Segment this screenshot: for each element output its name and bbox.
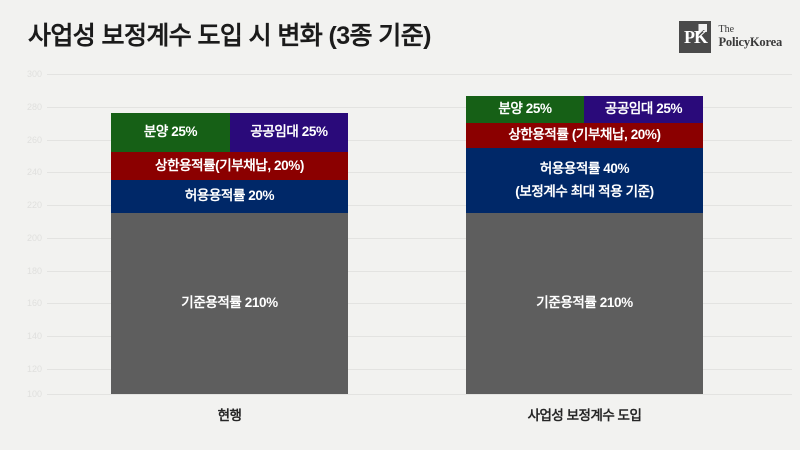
logo-monogram: PK xyxy=(684,28,707,46)
gridline-100 xyxy=(47,394,792,395)
ytick-label-160: 160 xyxy=(8,299,42,308)
bar-current[interactable]: 분양 25% 공공임대 25% 상한용적률(기부채납, 20%) 허용용적률 2… xyxy=(111,113,348,394)
segment-cap-adjusted[interactable]: 상한용적률 (기부채납, 20%) xyxy=(466,123,703,148)
segment-label-allowed-adjusted: 허용용적률 40% xyxy=(540,161,629,178)
ytick-label-300: 300 xyxy=(8,70,42,79)
segment-allowed-current[interactable]: 허용용적률 20% xyxy=(111,180,348,213)
segment-cap-current[interactable]: 상한용적률(기부채납, 20%) xyxy=(111,152,348,180)
gridline-300 xyxy=(47,74,792,75)
segment-label-rental-current: 공공임대 25% xyxy=(250,124,327,141)
segment-sale-adjusted[interactable]: 분양 25% xyxy=(466,96,584,123)
policykorea-logo: PK The PolicyKorea xyxy=(679,20,782,54)
segment-label-sale-adjusted: 분양 25% xyxy=(498,101,551,118)
ytick-label-280: 280 xyxy=(8,103,42,112)
logo-wordmark: The PolicyKorea xyxy=(718,25,782,49)
bar-adjusted[interactable]: 분양 25% 공공임대 25% 상한용적률 (기부채납, 20%) 허용용적률 … xyxy=(466,96,703,394)
segment-rental-current[interactable]: 공공임대 25% xyxy=(230,113,348,152)
segment-label-base-current: 기준용적률 210% xyxy=(181,295,277,312)
segment-sale-current[interactable]: 분양 25% xyxy=(111,113,230,152)
segment-base-current[interactable]: 기준용적률 210% xyxy=(111,213,348,394)
logo-line-2: PolicyKorea xyxy=(718,36,782,50)
logo-mark-icon: PK xyxy=(679,21,711,53)
xaxis-label-current: 현행 xyxy=(111,404,348,424)
ytick-label-100: 100 xyxy=(8,390,42,399)
segment-label-rental-adjusted: 공공임대 25% xyxy=(605,101,682,118)
ytick-label-260: 260 xyxy=(8,136,42,145)
segment-label-sale-current: 분양 25% xyxy=(144,124,197,141)
segment-label-cap-adjusted: 상한용적률 (기부채납, 20%) xyxy=(508,127,660,144)
xaxis-label-adjusted: 사업성 보정계수 도입 xyxy=(466,404,703,424)
ytick-label-200: 200 xyxy=(8,234,42,243)
segment-sublabel-allowed-adjusted: (보정계수 최대 적용 기준) xyxy=(515,180,653,200)
ytick-label-220: 220 xyxy=(8,201,42,210)
segment-label-cap-current: 상한용적률(기부채납, 20%) xyxy=(155,158,304,175)
ytick-label-120: 120 xyxy=(8,365,42,374)
segment-allowed-adjusted[interactable]: 허용용적률 40% (보정계수 최대 적용 기준) xyxy=(466,148,703,213)
segment-base-adjusted[interactable]: 기준용적률 210% xyxy=(466,213,703,394)
chart-header: 사업성 보정계수 도입 시 변화 (3종 기준) PK The PolicyKo… xyxy=(0,0,800,66)
page-title: 사업성 보정계수 도입 시 변화 (3종 기준) xyxy=(28,16,431,52)
segment-label-base-adjusted: 기준용적률 210% xyxy=(536,295,632,312)
segment-label-allowed-current: 허용용적률 20% xyxy=(185,188,274,205)
segment-rental-adjusted[interactable]: 공공임대 25% xyxy=(584,96,703,123)
ytick-label-240: 240 xyxy=(8,168,42,177)
ytick-label-180: 180 xyxy=(8,267,42,276)
chart-canvas: 사업성 보정계수 도입 시 변화 (3종 기준) PK The PolicyKo… xyxy=(0,0,800,450)
plot-area: 300 280 260 240 220 200 180 160 140 120 … xyxy=(0,66,800,450)
ytick-label-140: 140 xyxy=(8,332,42,341)
